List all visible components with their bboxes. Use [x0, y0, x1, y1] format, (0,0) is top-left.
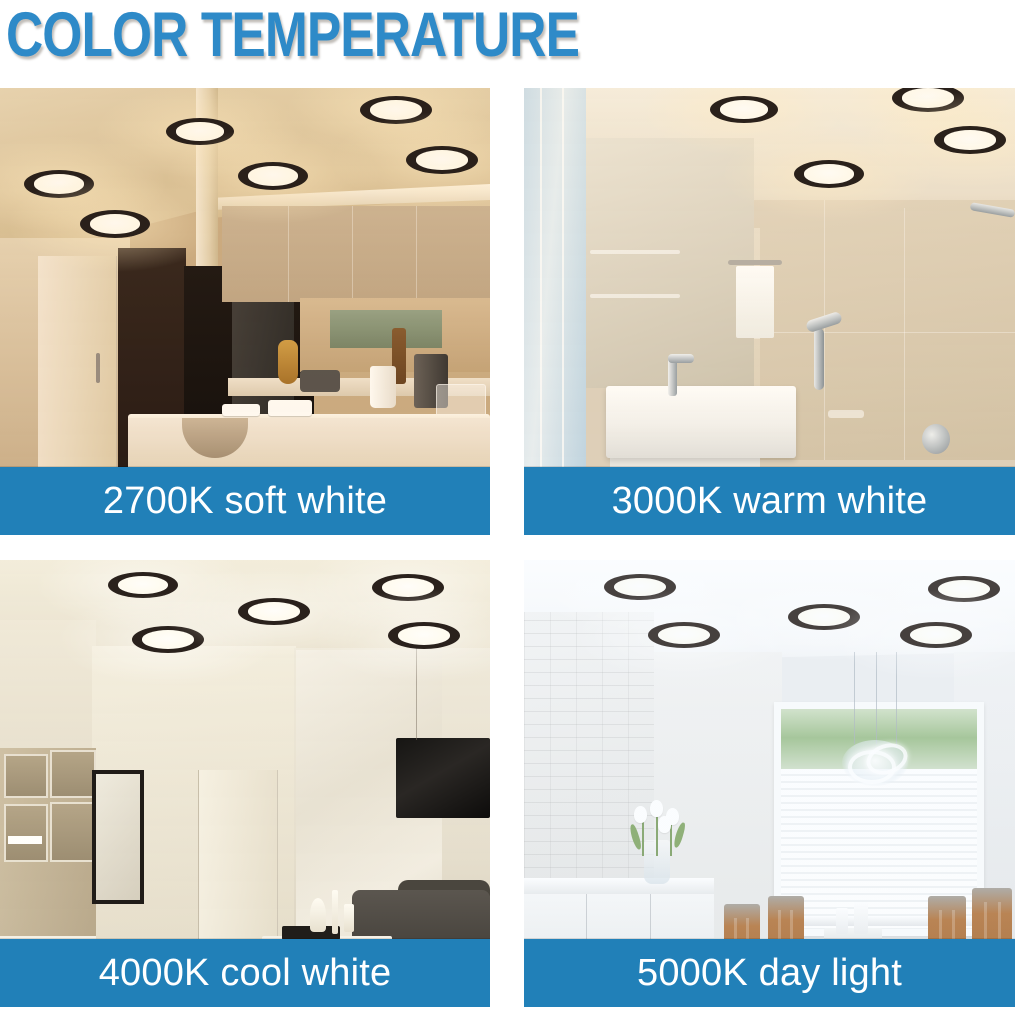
color-temperature-grid: 2700K soft white — [0, 88, 1024, 1011]
page-title: COLOR TEMPERATURE — [6, 2, 579, 67]
panel-4000k[interactable]: 4000K cool white — [0, 560, 490, 1007]
caption-5000k: 5000K day light — [524, 939, 1015, 1007]
page-header: COLOR TEMPERATURE — [0, 0, 1024, 88]
caption-2700k: 2700K soft white — [0, 467, 490, 535]
panel-2700k[interactable]: 2700K soft white — [0, 88, 490, 535]
panel-3000k[interactable]: 3000K warm white — [524, 88, 1015, 535]
caption-3000k: 3000K warm white — [524, 467, 1015, 535]
caption-4000k: 4000K cool white — [0, 939, 490, 1007]
panel-5000k[interactable]: 5000K day light — [524, 560, 1015, 1007]
